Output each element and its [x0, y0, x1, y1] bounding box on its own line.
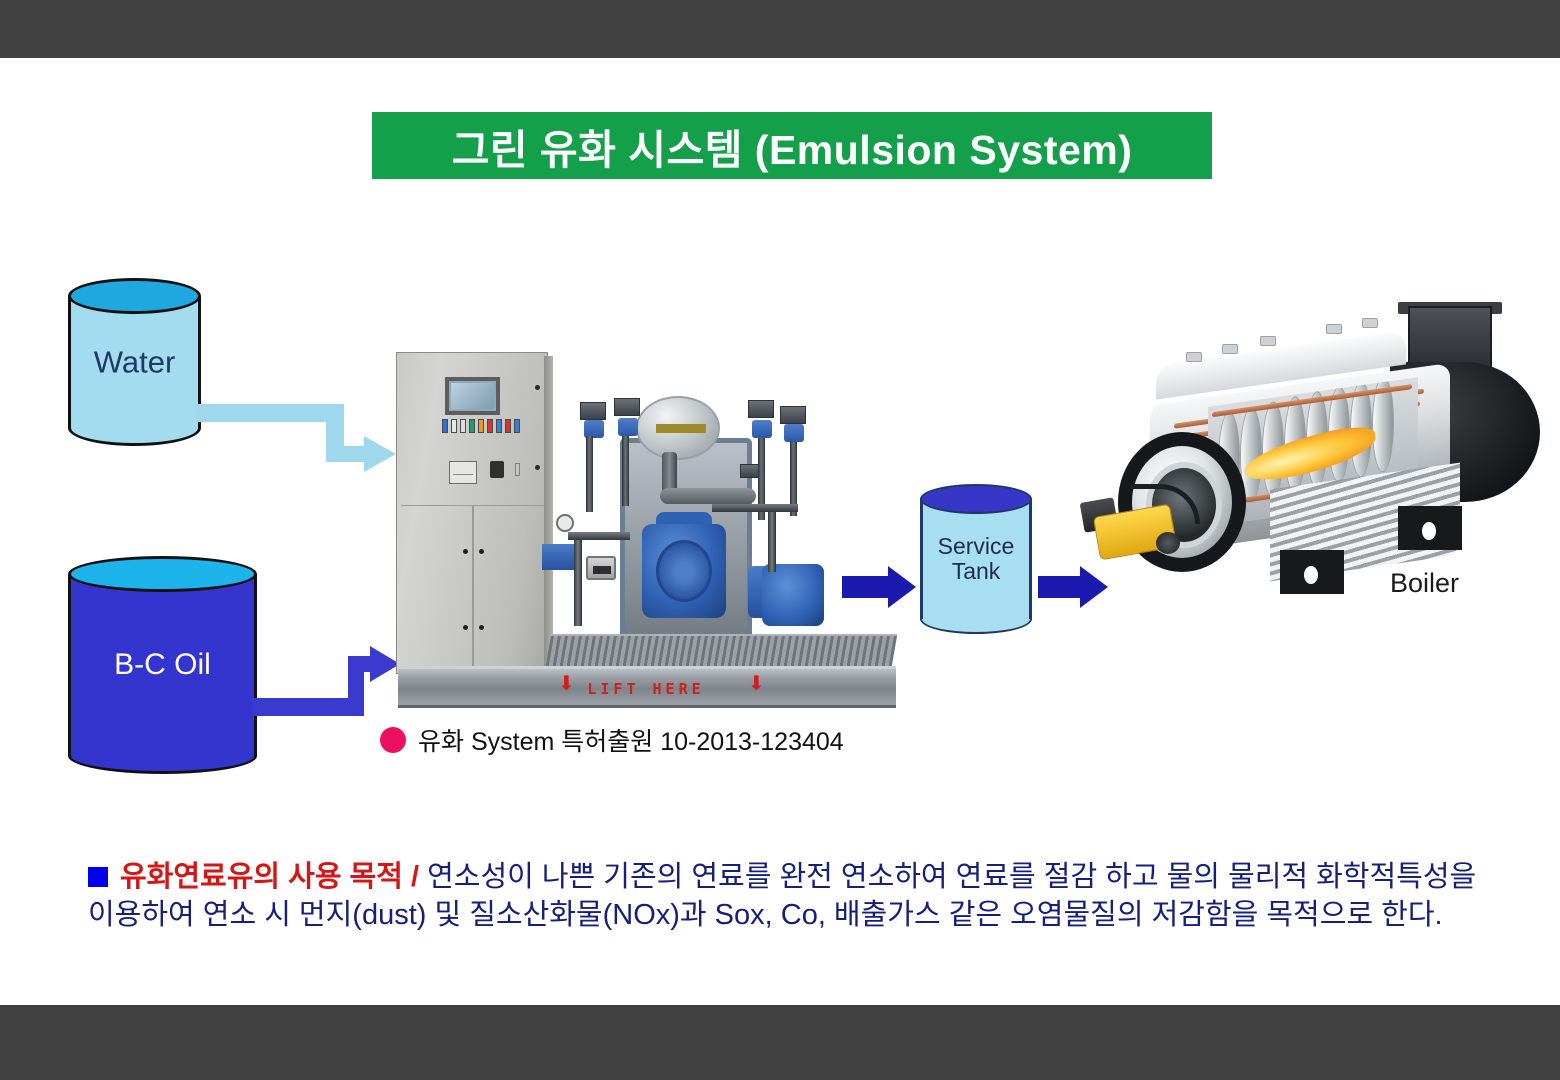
boiler-label: Boiler: [1390, 568, 1459, 599]
discharge-pipe: [768, 506, 776, 572]
emulsion-machinery: [562, 396, 852, 672]
boiler-nozzle-boss: [1222, 344, 1238, 354]
indicator-lamp: [451, 419, 457, 433]
top-decoration-bar: [0, 0, 1560, 58]
service-tank-top: [920, 484, 1032, 514]
emulsion-system-equipment: ⬇ ⬇ LIFT HERE: [396, 344, 896, 708]
cabinet-screw: [535, 385, 540, 390]
valve-actuator: [748, 400, 774, 418]
cabinet-screw: [535, 465, 540, 470]
purpose-statement: 유화연료유의 사용 목적 / 연소성이 나쁜 기존의 연료를 완전 연소하여 연…: [88, 858, 1478, 935]
lift-arrow-icon: ⬇: [558, 674, 575, 694]
boiler-nozzle-boss: [1326, 324, 1342, 334]
boiler-nozzle-boss: [1260, 336, 1276, 346]
mixing-drum: [636, 396, 720, 460]
indicator-lamp: [469, 419, 475, 433]
indicator-lamp: [487, 419, 493, 433]
bullet-circle-icon: [380, 727, 406, 753]
discharge-header: [712, 504, 798, 512]
suction-pipe: [574, 536, 582, 626]
selector-switch: [490, 461, 504, 478]
water-tank-body: [68, 296, 201, 428]
indicator-lamp-row: [442, 419, 522, 433]
boiler-mounting-foot: [1280, 550, 1344, 594]
indicator-lamp: [442, 419, 448, 433]
bc-oil-tank-top: [68, 556, 257, 592]
boiler-mounting-foot: [1398, 506, 1462, 550]
control-valve: [752, 420, 772, 438]
boiler-nozzle-boss: [1362, 318, 1378, 328]
indicator-lamp: [460, 419, 466, 433]
cross-pipe: [660, 488, 756, 504]
main-pump-motor: [642, 524, 726, 618]
arrow-oil-to-skid: [252, 646, 402, 726]
indicator-lamp: [496, 419, 502, 433]
door-handle: [479, 549, 484, 554]
door-handle: [463, 549, 468, 554]
analog-meter: [449, 461, 477, 484]
title-banner: 그린 유화 시스템 (Emulsion System): [372, 112, 1212, 179]
page-title: 그린 유화 시스템 (Emulsion System): [452, 116, 1133, 176]
valve-stem: [622, 436, 629, 506]
valve-actuator: [780, 406, 806, 424]
arrow-skid-to-service-tank: [842, 566, 916, 610]
boiler-illustration: Boiler: [1090, 300, 1550, 640]
flow-meter: [586, 556, 616, 580]
door-handle: [479, 625, 484, 630]
indicator-lamp: [505, 419, 511, 433]
lift-here-marking: LIFT HERE: [587, 680, 704, 698]
panel-knob: [515, 463, 520, 476]
control-panel-side: [544, 356, 553, 670]
boiler-nozzle-boss: [1186, 352, 1202, 362]
inlet-valve-block: [542, 544, 576, 570]
valve-actuator: [614, 398, 640, 416]
manifold-pipe: [568, 532, 630, 540]
slide-canvas: 그린 유화 시스템 (Emulsion System) Water B-C Oi…: [0, 0, 1560, 1080]
water-tank-top: [68, 278, 201, 314]
lift-arrow-icon: ⬇: [748, 674, 765, 694]
service-tank-body: [920, 499, 1032, 619]
secondary-pump-motor: [762, 564, 824, 626]
solenoid-valve: [740, 464, 760, 478]
bc-oil-tank-body: [68, 574, 257, 756]
indicator-lamp: [514, 419, 520, 433]
service-tank: Service Tank: [920, 484, 1032, 634]
valve-actuator: [580, 402, 606, 420]
patent-note: 유화 System 특허출원 10-2013-123404: [380, 722, 844, 758]
hmi-touchscreen: [445, 377, 500, 415]
patent-note-text: 유화 System 특허출원 10-2013-123404: [418, 722, 844, 758]
drum-nameplate: [656, 424, 706, 433]
water-tank: Water: [68, 278, 201, 446]
bullet-square-icon: [88, 867, 108, 887]
control-panel-cabinet: [396, 352, 548, 674]
bottom-decoration-bar: [0, 1005, 1560, 1080]
valve-stem: [586, 436, 593, 512]
cabinet-door-split: [472, 505, 474, 675]
control-valve: [784, 424, 804, 442]
hmi-screen-surface: [451, 383, 494, 409]
arrow-water-to-skid: [196, 396, 401, 491]
purpose-statement-emphasis: 유화연료유의 사용 목적 /: [120, 861, 419, 893]
door-handle: [463, 625, 468, 630]
pressure-gauge: [556, 514, 574, 532]
bc-oil-tank: B-C Oil: [68, 556, 257, 774]
control-valve: [618, 418, 638, 436]
indicator-lamp: [478, 419, 484, 433]
burner-nozzle: [1156, 532, 1180, 554]
